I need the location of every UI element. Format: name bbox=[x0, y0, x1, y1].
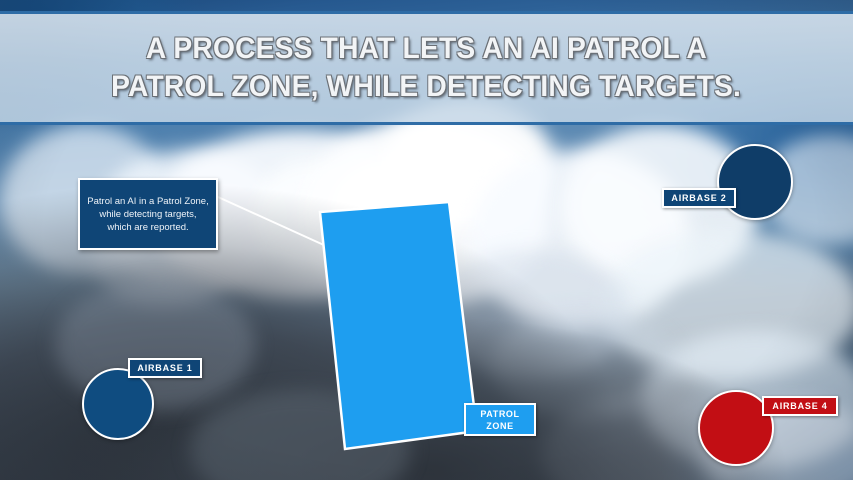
airbase-2-marker[interactable] bbox=[717, 144, 793, 220]
patrol-zone-polygon[interactable] bbox=[320, 202, 477, 449]
airbase-1-label[interactable]: AIRBASE 1 bbox=[128, 358, 202, 378]
patrol-zone-label[interactable]: PATROL ZONE bbox=[464, 403, 536, 436]
airbase-4-label[interactable]: AIRBASE 4 bbox=[762, 396, 838, 416]
airbase-1-marker[interactable] bbox=[82, 368, 154, 440]
slide-canvas: A PROCESS THAT LETS AN AI PATROL A PATRO… bbox=[0, 0, 853, 480]
airbase-2-label[interactable]: AIRBASE 2 bbox=[662, 188, 736, 208]
